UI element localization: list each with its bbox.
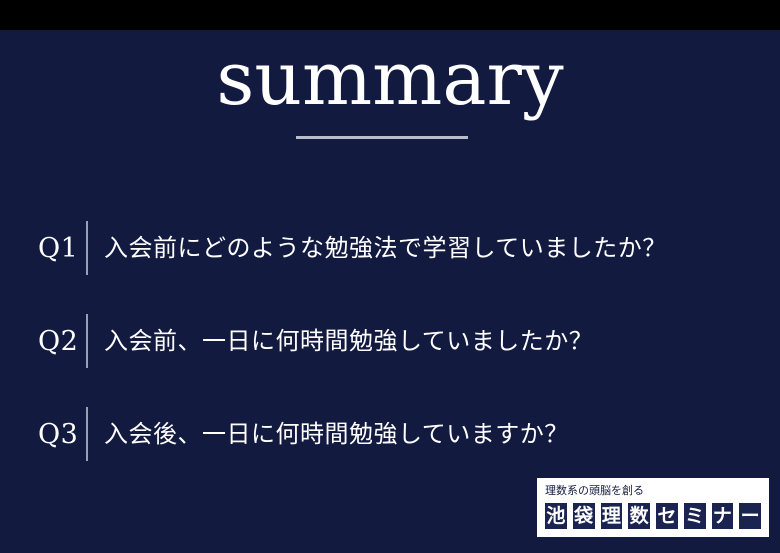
question-divider-2 bbox=[86, 314, 88, 368]
question-text-q3: 入会後、一日に何時間勉強していますか？ bbox=[104, 421, 569, 447]
logo-box-7: ナ bbox=[710, 501, 736, 531]
question-text-q1: 入会前にどのような勉強法で学習していましたか？ bbox=[104, 235, 667, 261]
question-label-q2: Q2 bbox=[38, 328, 86, 355]
question-label-q3: Q3 bbox=[38, 421, 86, 448]
page-title: summary bbox=[0, 42, 780, 116]
question-label-q1: Q1 bbox=[38, 235, 86, 262]
logo-box-1: 池 bbox=[543, 501, 569, 531]
title-divider-rule bbox=[296, 136, 468, 139]
logo-box-5: セ bbox=[654, 501, 680, 531]
question-text-q2: 入会前、一日に何時間勉強していましたか？ bbox=[104, 328, 593, 354]
question-divider-3 bbox=[86, 407, 88, 461]
summary-slide: summary Q1 入会前にどのような勉強法で学習していましたか？ Q2 入会… bbox=[0, 0, 780, 553]
brand-logo: 理数系の頭脳を創る 池 袋 理 数 セ ミ ナ ー bbox=[537, 478, 769, 537]
logo-character-boxes: 池 袋 理 数 セ ミ ナ ー bbox=[543, 501, 763, 531]
logo-box-3: 理 bbox=[599, 501, 625, 531]
logo-tagline: 理数系の頭脳を創る bbox=[543, 483, 763, 501]
logo-box-2: 袋 bbox=[571, 501, 597, 531]
question-divider-1 bbox=[86, 221, 88, 275]
logo-box-6: ミ bbox=[682, 501, 708, 531]
slide-canvas: summary Q1 入会前にどのような勉強法で学習していましたか？ Q2 入会… bbox=[0, 30, 780, 553]
question-row-1: Q1 入会前にどのような勉強法で学習していましたか？ bbox=[38, 221, 667, 275]
logo-box-8: ー bbox=[737, 501, 763, 531]
question-row-2: Q2 入会前、一日に何時間勉強していましたか？ bbox=[38, 314, 593, 368]
question-row-3: Q3 入会後、一日に何時間勉強していますか？ bbox=[38, 407, 569, 461]
letterbox-top-bar bbox=[0, 0, 780, 30]
logo-box-4: 数 bbox=[626, 501, 652, 531]
